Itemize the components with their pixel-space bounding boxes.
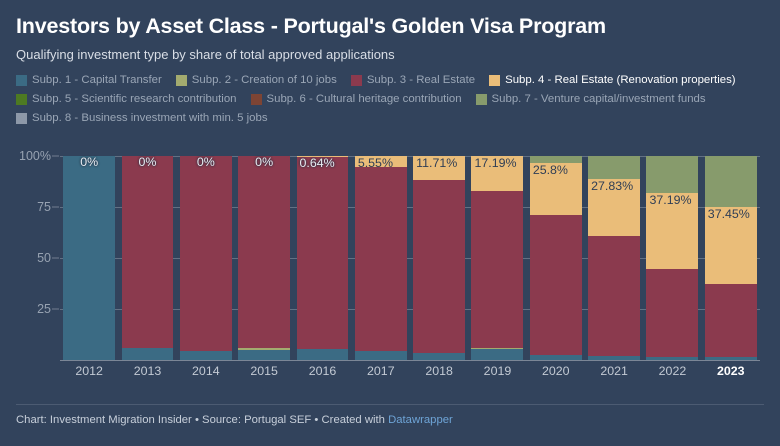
chart-subtitle: Qualifying investment type by share of t… [16, 47, 764, 63]
x-axis-label-2020[interactable]: 2020 [530, 364, 582, 378]
chart-container: Investors by Asset Class - Portugal's Go… [0, 0, 780, 446]
bar-segment[interactable] [413, 353, 465, 360]
bar-segment[interactable] [180, 156, 232, 351]
bar-segment[interactable]: 37.19% [646, 193, 698, 269]
bar-segment[interactable] [530, 156, 582, 163]
x-axis-label-2023[interactable]: 2023 [705, 364, 757, 378]
bar-segment[interactable] [413, 180, 465, 353]
bar-value-label: 37.45% [708, 208, 750, 222]
bar-group: 0%0%0%0%0.64%5.55%11.71%17.19%25.8%27.83… [60, 156, 760, 360]
x-axis-labels: 2012201320142015201620172018201920202021… [60, 364, 760, 378]
bar-column-2022[interactable]: 37.19% [646, 156, 698, 360]
bar-segment[interactable] [63, 156, 115, 360]
bar-value-label: 27.83% [591, 180, 633, 194]
y-tick-mark [52, 207, 59, 208]
legend-item-6[interactable]: Subp. 6 - Cultural heritage contribution [251, 92, 462, 107]
bar-column-2021[interactable]: 27.83% [588, 156, 640, 360]
legend-swatch-icon [251, 94, 262, 105]
bar-segment[interactable]: 11.71% [413, 156, 465, 180]
bar-column-2013[interactable]: 0% [122, 156, 174, 360]
bar-column-2014[interactable]: 0% [180, 156, 232, 360]
x-axis-label-2017[interactable]: 2017 [355, 364, 407, 378]
bar-value-label: 11.71% [416, 157, 457, 171]
y-axis-tick-label: 75 [37, 200, 51, 214]
bar-segment[interactable] [471, 349, 523, 360]
x-axis-label-2014[interactable]: 2014 [180, 364, 232, 378]
y-tick-mark [52, 258, 59, 259]
plot-area: 100%755025 0%0%0%0%0.64%5.55%11.71%17.19… [60, 156, 760, 360]
bar-value-label: 0% [139, 156, 157, 170]
plot-wrapper: 100%755025 0%0%0%0%0.64%5.55%11.71%17.19… [16, 150, 764, 395]
bar-column-2019[interactable]: 17.19% [471, 156, 523, 360]
y-axis-tick-label: 25 [37, 302, 51, 316]
legend-item-label: Subp. 6 - Cultural heritage contribution [267, 94, 462, 105]
bar-segment[interactable] [355, 167, 407, 351]
legend-item-label: Subp. 5 - Scientific research contributi… [32, 94, 237, 105]
bar-segment[interactable] [588, 236, 640, 356]
bar-segment[interactable]: 37.45% [705, 207, 757, 283]
bar-segment[interactable] [355, 351, 407, 360]
bar-segment[interactable] [297, 349, 349, 360]
legend-item-7[interactable]: Subp. 7 - Venture capital/investment fun… [476, 92, 706, 107]
x-axis-label-2015[interactable]: 2015 [238, 364, 290, 378]
bar-column-2018[interactable]: 11.71% [413, 156, 465, 360]
x-axis-label-2022[interactable]: 2022 [646, 364, 698, 378]
bar-segment[interactable]: 25.8% [530, 163, 582, 216]
legend-swatch-icon [351, 75, 362, 86]
bar-segment[interactable] [238, 156, 290, 348]
legend-item-8[interactable]: Subp. 8 - Business investment with min. … [16, 111, 268, 126]
x-axis-label-2013[interactable]: 2013 [122, 364, 174, 378]
legend-item-2[interactable]: Subp. 2 - Creation of 10 jobs [176, 73, 337, 88]
legend-swatch-icon [16, 113, 27, 124]
bar-segment[interactable] [705, 156, 757, 207]
bar-segment[interactable]: 0.64% [297, 156, 349, 157]
x-axis-label-2012[interactable]: 2012 [63, 364, 115, 378]
bar-segment[interactable] [238, 350, 290, 360]
legend-item-label: Subp. 1 - Capital Transfer [32, 75, 162, 86]
chart-footer: Chart: Investment Migration Insider • So… [16, 414, 453, 426]
bar-segment[interactable] [646, 269, 698, 357]
legend-item-label: Subp. 8 - Business investment with min. … [32, 113, 268, 124]
footer-text: Chart: Investment Migration Insider • So… [16, 414, 388, 426]
legend-item-1[interactable]: Subp. 1 - Capital Transfer [16, 73, 162, 88]
bar-column-2012[interactable]: 0% [63, 156, 115, 360]
bar-column-2023[interactable]: 37.45% [705, 156, 757, 360]
legend-item-label: Subp. 2 - Creation of 10 jobs [192, 75, 337, 86]
bar-column-2017[interactable]: 5.55% [355, 156, 407, 360]
x-axis-line [60, 360, 760, 361]
bar-value-label: 37.19% [649, 194, 691, 208]
bar-value-label: 25.8% [533, 164, 568, 178]
bar-segment[interactable]: 27.83% [588, 179, 640, 236]
bar-segment[interactable] [297, 157, 349, 349]
bar-value-label: 0.64% [300, 157, 335, 171]
bar-column-2015[interactable]: 0% [238, 156, 290, 360]
x-axis-label-2019[interactable]: 2019 [471, 364, 523, 378]
bar-segment[interactable] [122, 156, 174, 348]
y-tick-mark [52, 309, 59, 310]
y-axis-tick-label: 50 [37, 251, 51, 265]
bar-segment[interactable]: 17.19% [471, 156, 523, 191]
bar-segment[interactable] [238, 348, 290, 349]
bar-segment[interactable] [646, 156, 698, 193]
bar-column-2016[interactable]: 0.64% [297, 156, 349, 360]
y-tick-mark [52, 156, 59, 157]
legend-item-5[interactable]: Subp. 5 - Scientific research contributi… [16, 92, 237, 107]
datawrapper-link[interactable]: Datawrapper [388, 414, 453, 426]
legend-item-3[interactable]: Subp. 3 - Real Estate [351, 73, 475, 88]
legend-swatch-icon [176, 75, 187, 86]
footer-divider [16, 404, 764, 405]
bar-value-label: 0% [80, 156, 98, 170]
bar-value-label: 5.55% [358, 157, 393, 171]
bar-segment[interactable]: 5.55% [355, 156, 407, 167]
legend-item-4[interactable]: Subp. 4 - Real Estate (Renovation proper… [489, 73, 735, 88]
legend-item-label: Subp. 3 - Real Estate [367, 75, 475, 86]
bar-segment[interactable] [122, 348, 174, 360]
bar-value-label: 0% [197, 156, 215, 170]
legend-swatch-icon [476, 94, 487, 105]
bar-segment[interactable] [180, 351, 232, 360]
legend-item-label: Subp. 4 - Real Estate (Renovation proper… [505, 75, 735, 86]
bar-value-label: 0% [255, 156, 273, 170]
bar-segment[interactable] [471, 348, 523, 349]
bar-column-2020[interactable]: 25.8% [530, 156, 582, 360]
bar-value-label: 17.19% [474, 157, 516, 171]
legend-swatch-icon [16, 75, 27, 86]
bar-segment[interactable] [588, 156, 640, 179]
chart-legend: Subp. 1 - Capital TransferSubp. 2 - Crea… [16, 73, 764, 126]
legend-swatch-icon [489, 75, 500, 86]
y-axis-tick-label: 100% [19, 149, 51, 163]
x-axis-label-2018[interactable]: 2018 [413, 364, 465, 378]
x-axis-label-2021[interactable]: 2021 [588, 364, 640, 378]
legend-swatch-icon [16, 94, 27, 105]
bar-segment[interactable] [471, 191, 523, 347]
chart-title: Investors by Asset Class - Portugal's Go… [16, 14, 764, 39]
bar-segment[interactable] [530, 215, 582, 355]
x-axis-label-2016[interactable]: 2016 [297, 364, 349, 378]
legend-item-label: Subp. 7 - Venture capital/investment fun… [492, 94, 706, 105]
bar-segment[interactable] [705, 284, 757, 357]
